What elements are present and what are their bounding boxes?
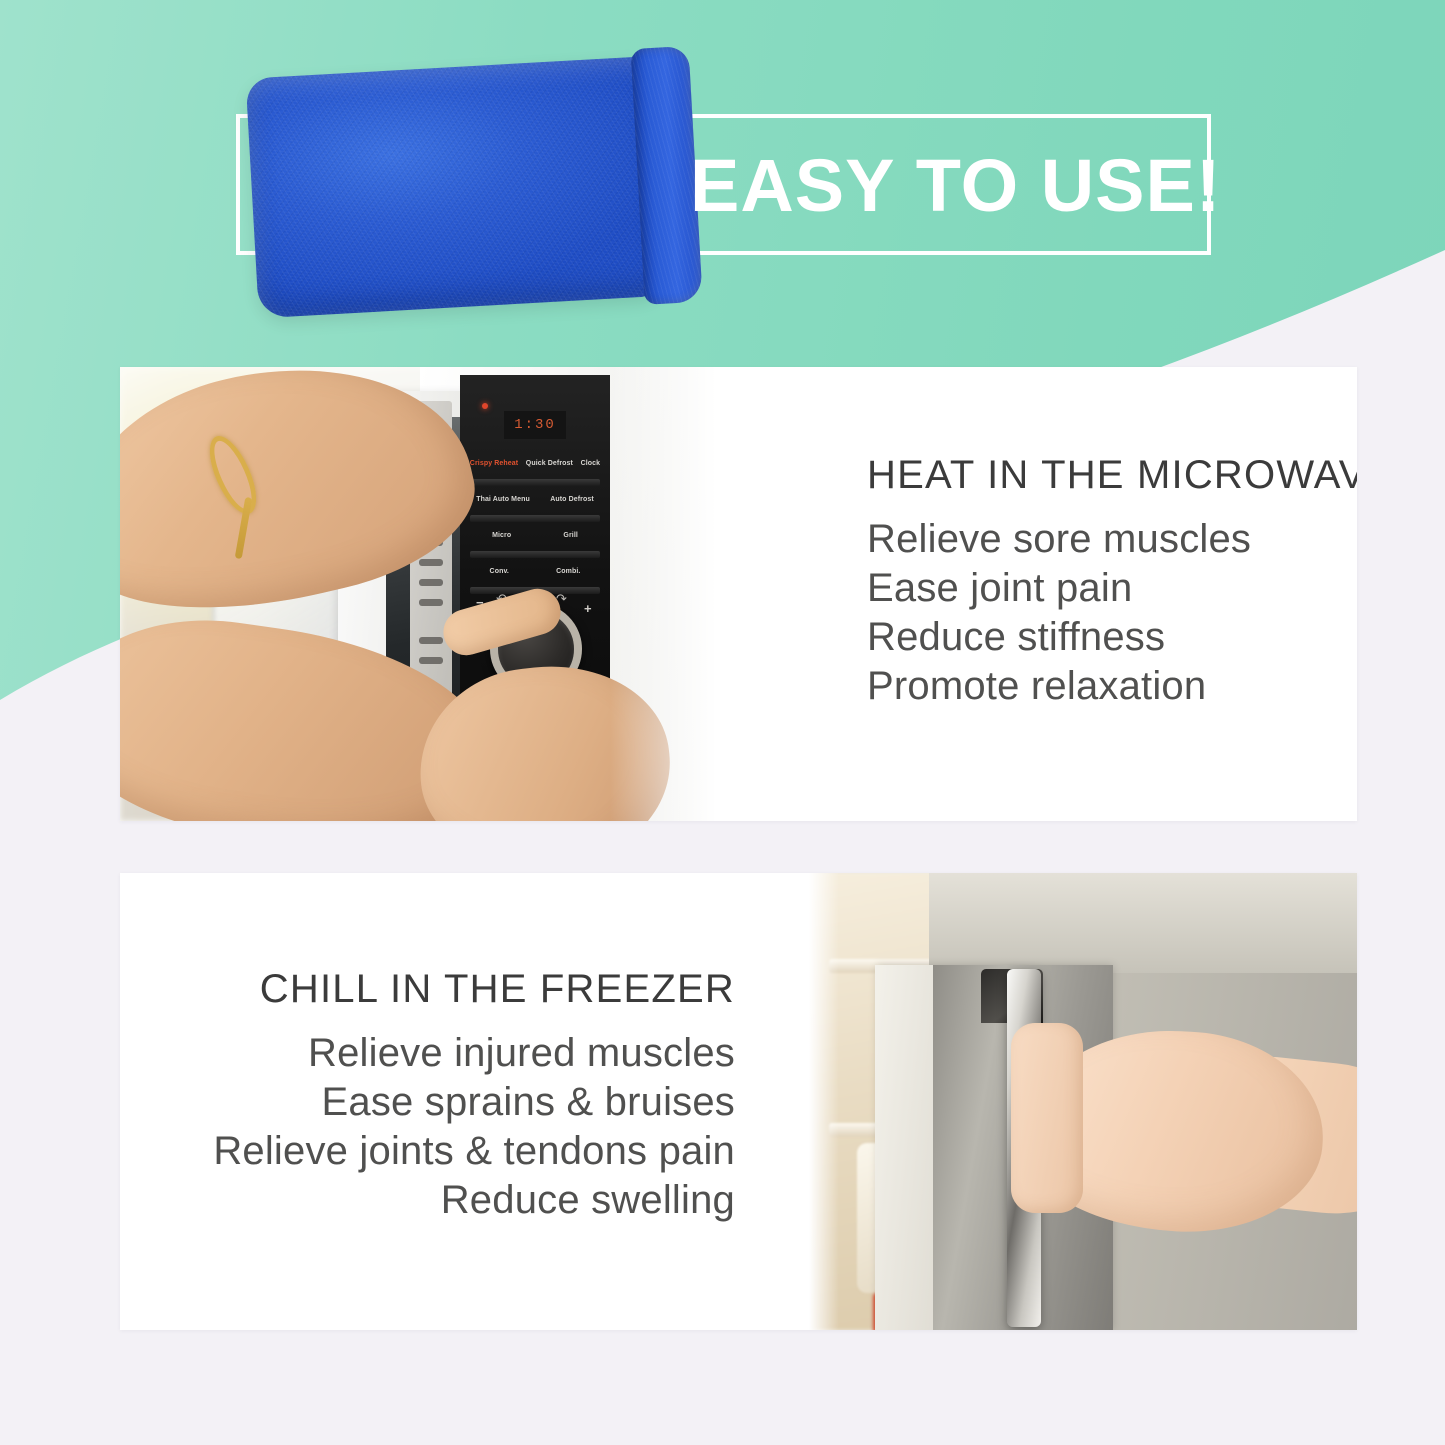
freezer-copy: CHILL IN THE FREEZER Relieve injured mus… (120, 873, 810, 1330)
panel-button-quick-defrost[interactable]: Quick Defrost (524, 459, 575, 469)
list-item: Ease sprains & bruises (160, 1078, 735, 1127)
panel-button-grill[interactable]: Grill (561, 531, 580, 541)
list-item: Reduce stiffness (867, 613, 1317, 662)
freezer-photo (809, 873, 1357, 1330)
panel-button-row-3: Micro Grill (466, 531, 604, 541)
list-item: Reduce swelling (160, 1176, 735, 1225)
pad-body (246, 56, 664, 318)
card-chill-in-the-freezer: CHILL IN THE FREEZER Relieve injured mus… (120, 873, 1357, 1330)
dial-plus-label: + (584, 601, 592, 616)
card-heading-microwave: HEAT IN THE MICROWAVE (867, 451, 1317, 499)
panel-bar-1 (470, 479, 600, 486)
list-item: Relieve joints & tendons pain (160, 1127, 735, 1176)
panel-button-auto-defrost[interactable]: Auto Defrost (548, 495, 596, 505)
freezer-scene (809, 873, 1357, 1330)
microwave-benefit-list: Relieve sore muscles Ease joint pain Red… (867, 515, 1317, 711)
list-item: Relieve sore muscles (867, 515, 1317, 564)
photo-fade-right (610, 367, 740, 821)
product-image-fleece-pad (245, 46, 707, 329)
panel-button-conv[interactable]: Conv. (488, 567, 511, 577)
panel-button-combi[interactable]: Combi. (554, 567, 582, 577)
hero-title: EASY TO USE! (690, 138, 1200, 234)
freezer-benefit-list: Relieve injured muscles Ease sprains & b… (160, 1029, 735, 1225)
panel-bar-3 (470, 551, 600, 558)
hero-section: EASY TO USE! (0, 0, 1445, 340)
panel-bar-2 (470, 515, 600, 522)
microwave-copy: HEAT IN THE MICROWAVE Relieve sore muscl… (740, 367, 1357, 821)
microwave-photo: 1:30 Crispy Reheat Quick Defrost Clock T… (120, 367, 740, 821)
panel-button-clock[interactable]: Clock (579, 459, 603, 469)
panel-button-row-4: Conv. Combi. (466, 567, 604, 577)
panel-button-thai-auto-menu[interactable]: Thai Auto Menu (474, 495, 532, 505)
panel-button-crispy-reheat[interactable]: Crispy Reheat (468, 459, 520, 469)
microwave-scene: 1:30 Crispy Reheat Quick Defrost Clock T… (120, 367, 740, 821)
panel-button-row-2: Thai Auto Menu Auto Defrost (466, 495, 604, 505)
card-heat-in-the-microwave: 1:30 Crispy Reheat Quick Defrost Clock T… (120, 367, 1357, 821)
panel-button-row-1: Crispy Reheat Quick Defrost Clock (466, 459, 604, 469)
photo-fade-left (809, 873, 839, 1330)
panel-display: 1:30 (504, 411, 566, 439)
panel-button-micro[interactable]: Micro (490, 531, 513, 541)
list-item: Relieve injured muscles (160, 1029, 735, 1078)
fingers (1011, 1023, 1083, 1213)
card-heading-freezer: CHILL IN THE FREEZER (160, 965, 735, 1013)
list-item: Ease joint pain (867, 564, 1317, 613)
fridge-top-panel (929, 873, 1357, 973)
panel-indicator-led (482, 403, 488, 409)
infographic-stage: EASY TO USE! (0, 0, 1445, 1445)
list-item: Promote relaxation (867, 662, 1317, 711)
